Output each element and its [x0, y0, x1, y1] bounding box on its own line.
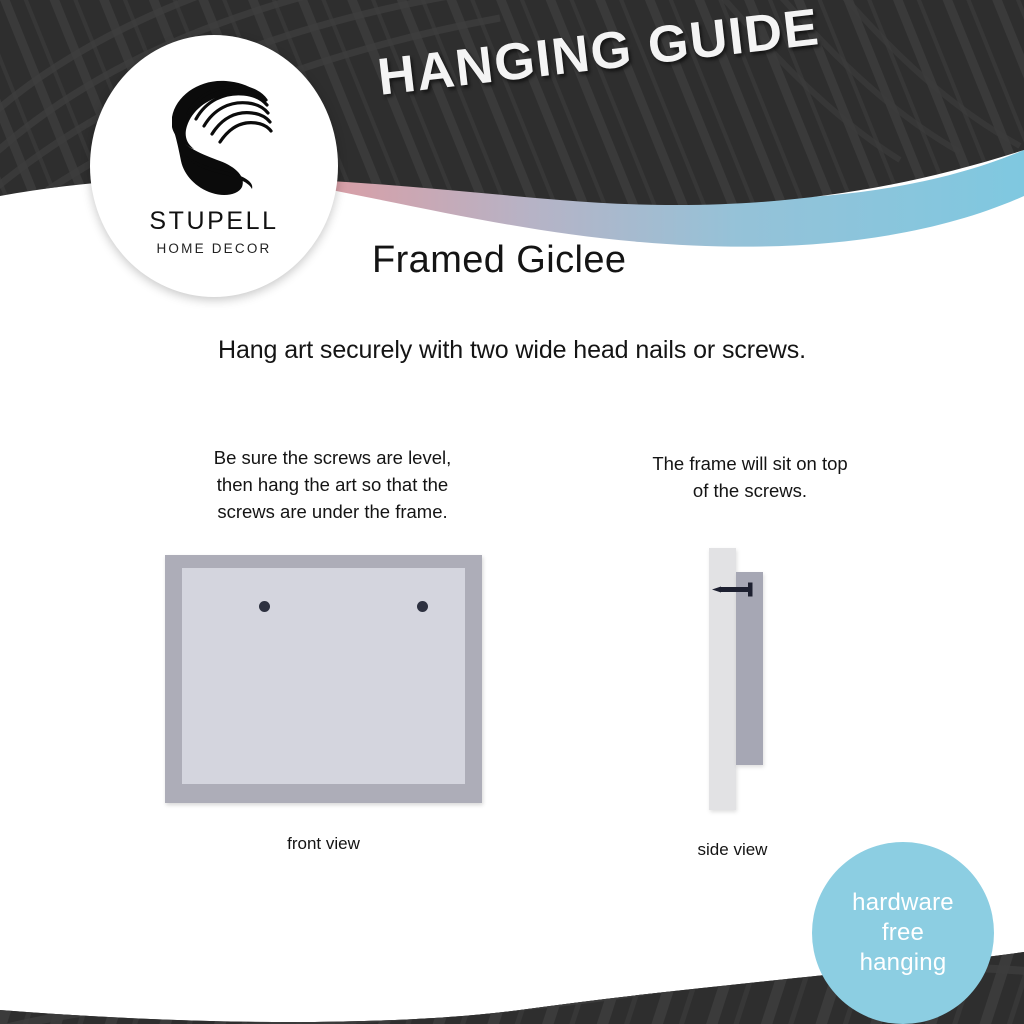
screw-dot-left — [259, 601, 270, 612]
side-caption-line-1: The frame will sit on top — [570, 450, 930, 477]
hanging-guide-page: STUPELL HOME DECOR HANGING GUIDE Framed … — [0, 0, 1024, 1024]
brand-tagline: HOME DECOR — [156, 241, 271, 256]
front-view-label: front view — [165, 834, 482, 854]
badge-line-2: free — [882, 918, 924, 948]
page-title: HANGING GUIDE — [375, 0, 823, 108]
hardware-free-hanging-badge: hardware free hanging — [812, 842, 994, 1024]
side-caption-line-2: of the screws. — [570, 477, 930, 504]
product-name: Framed Giclee — [372, 239, 626, 282]
front-caption-line-3: screws are under the frame. — [140, 498, 525, 525]
front-caption-line-1: Be sure the screws are level, — [140, 444, 525, 471]
front-caption-line-2: then hang the art so that the — [140, 471, 525, 498]
nail-icon — [712, 580, 758, 598]
side-view-caption: The frame will sit on top of the screws. — [570, 450, 930, 504]
frame-mat — [182, 568, 465, 784]
brand-name: STUPELL — [149, 207, 278, 236]
brand-logo-badge: STUPELL HOME DECOR — [90, 35, 338, 297]
front-view-caption: Be sure the screws are level, then hang … — [140, 444, 525, 525]
side-view-frame — [736, 572, 763, 765]
front-view-frame-illustration — [165, 555, 482, 803]
badge-line-3: hanging — [860, 948, 947, 978]
instruction-lede: Hang art securely with two wide head nai… — [0, 336, 1024, 365]
side-view-column: The frame will sit on top of the screws. — [570, 450, 930, 504]
badge-line-1: hardware — [852, 888, 954, 918]
screw-dot-right — [417, 601, 428, 612]
stupell-swoosh-logo-icon — [154, 69, 274, 197]
front-view-column: Be sure the screws are level, then hang … — [140, 444, 525, 525]
side-view-label: side view — [645, 840, 820, 860]
